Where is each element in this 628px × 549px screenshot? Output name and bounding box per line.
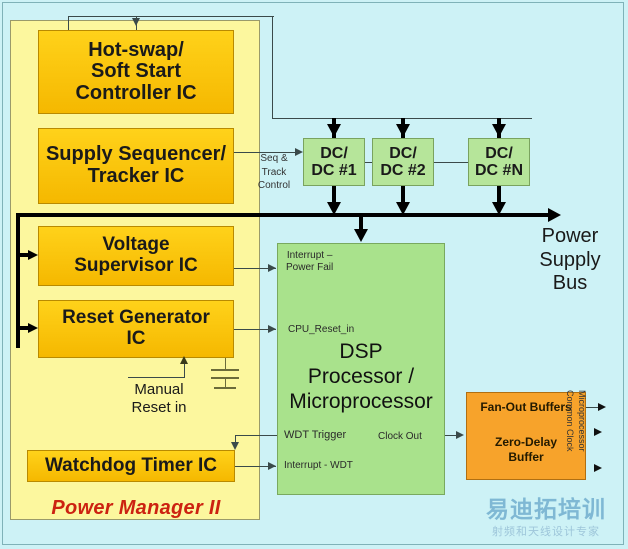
arrowhead-manual-reset bbox=[180, 356, 188, 364]
block-dsp-microprocessor[interactable]: Interrupt – Power Fail CPU_Reset_in DSP … bbox=[277, 243, 445, 495]
power-supply-bus-line bbox=[16, 213, 551, 217]
wire-dc2-dcn-link bbox=[434, 162, 468, 163]
arrowhead-dcn-input bbox=[492, 124, 506, 137]
arrowhead-dsp-interrupt-wdt bbox=[268, 462, 276, 470]
ground-symbol bbox=[214, 387, 236, 389]
wire-manual-reset-vertical bbox=[184, 362, 185, 378]
capacitor-top-stem bbox=[225, 358, 226, 369]
arrowhead-watchdog-trigger-input bbox=[231, 442, 239, 450]
capacitor-top-plate bbox=[211, 369, 239, 371]
arrowhead-clock-output-2 bbox=[594, 428, 602, 436]
dsp-pin-interrupt-power-fail: Interrupt – Power Fail bbox=[286, 250, 333, 273]
dsp-pin-cpu-reset-in: CPU_Reset_in bbox=[288, 324, 354, 336]
block-hot-swap-soft-start-controller[interactable]: Hot-swap/ Soft Start Controller IC bbox=[38, 30, 234, 114]
block-dc-dc-2[interactable]: DC/ DC #2 bbox=[372, 138, 434, 186]
label-microprocessor-common-clock: Microprocessor Common Clock bbox=[570, 390, 588, 482]
diagram-canvas: Hot-swap/ Soft Start Controller IC Suppl… bbox=[0, 0, 628, 549]
wire-wdt-trigger-horizontal bbox=[235, 435, 277, 436]
wire-top-input-to-dc-rail bbox=[272, 16, 273, 118]
block-dc-dc-1-label: DC/ DC #1 bbox=[311, 145, 356, 180]
block-supply-sequencer-tracker[interactable]: Supply Sequencer/ Tracker IC bbox=[38, 128, 234, 204]
arrowhead-clock-output-1 bbox=[598, 403, 606, 411]
block-watchdog-timer-label: Watchdog Timer IC bbox=[45, 456, 217, 477]
block-voltage-supervisor[interactable]: Voltage Supervisor IC bbox=[38, 226, 234, 286]
block-hot-swap-label: Hot-swap/ Soft Start Controller IC bbox=[75, 40, 196, 105]
watermark: 易迪拓培训 射频和天线设计专家 bbox=[470, 498, 622, 544]
dsp-pin-clock-out: Clock Out bbox=[378, 431, 422, 443]
arrowhead-fanout-input bbox=[456, 431, 464, 439]
wire-manual-reset-horizontal bbox=[128, 377, 184, 378]
block-dc-dc-n[interactable]: DC/ DC #N bbox=[468, 138, 530, 186]
block-dc-dc-1[interactable]: DC/ DC #1 bbox=[303, 138, 365, 186]
arrowhead-dsp-interrupt-power-fail bbox=[268, 264, 276, 272]
watermark-sub-text: 射频和天线设计专家 bbox=[470, 523, 622, 539]
block-reset-generator[interactable]: Reset Generator IC bbox=[38, 300, 234, 358]
label-power-supply-bus: Power Supply Bus bbox=[520, 225, 620, 296]
block-supply-sequencer-label: Supply Sequencer/ Tracker IC bbox=[46, 144, 226, 187]
block-reset-generator-label: Reset Generator IC bbox=[62, 308, 210, 349]
arrowhead-power-supply-bus bbox=[548, 208, 561, 222]
arrowhead-hotswap-input bbox=[132, 18, 140, 26]
dsp-pin-interrupt-wdt: Interrupt - WDT bbox=[284, 460, 353, 472]
capacitor-bottom-stem bbox=[225, 377, 226, 387]
wire-top-input-drop-left bbox=[68, 16, 69, 30]
watermark-main-text: 易迪拓培训 bbox=[470, 498, 622, 522]
wire-dc1-dc2-link bbox=[365, 162, 372, 163]
block-voltage-supervisor-label: Voltage Supervisor IC bbox=[74, 235, 198, 276]
block-dc-dc-2-label: DC/ DC #2 bbox=[380, 145, 425, 180]
dsp-pin-wdt-trigger: WDT Trigger bbox=[284, 429, 346, 442]
arrowhead-dc2-input bbox=[396, 124, 410, 137]
block-watchdog-timer[interactable]: Watchdog Timer IC bbox=[27, 450, 235, 482]
dsp-title: DSP Processor / Microprocessor bbox=[278, 340, 444, 414]
arrowhead-voltage-supervisor-input bbox=[28, 250, 38, 260]
arrowhead-dsp-cpu-reset-in bbox=[268, 325, 276, 333]
arrowhead-dc1-input bbox=[327, 124, 341, 137]
arrowhead-dsp-power-input bbox=[354, 229, 368, 242]
label-manual-reset-in: Manual Reset in bbox=[104, 381, 214, 417]
block-dc-dc-n-label: DC/ DC #N bbox=[475, 145, 523, 180]
label-seq-track-control: Seq & Track Control bbox=[248, 152, 300, 193]
power-manager-panel-label: Power Manager II bbox=[26, 497, 246, 520]
wire-top-input-right bbox=[125, 16, 274, 17]
arrowhead-reset-generator-input bbox=[28, 323, 38, 333]
arrowhead-clock-output-3 bbox=[594, 464, 602, 472]
